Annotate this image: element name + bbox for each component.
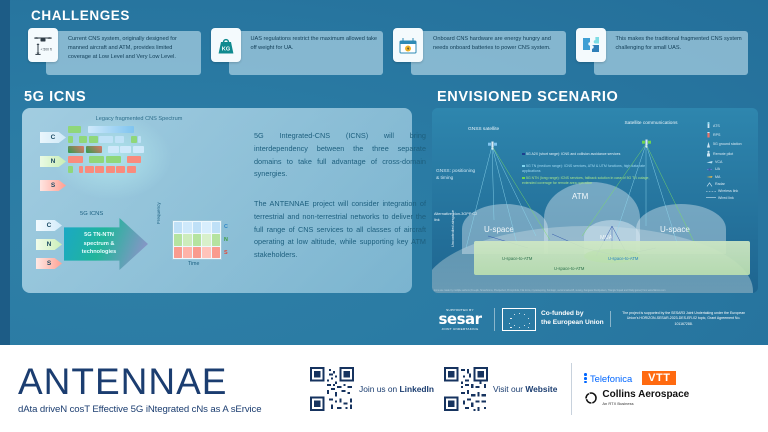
chart-row-label-s: S <box>224 250 228 256</box>
legend-label: ATS <box>713 124 720 128</box>
legend-label: Radar <box>715 182 725 186</box>
linkedin-qr[interactable] <box>310 367 354 411</box>
grant-statement: The project is supported by the SESAR3 J… <box>610 311 750 328</box>
ground-station-icon <box>706 141 711 148</box>
legend-item: Wired link <box>706 196 754 200</box>
legend-item: Remote pilot <box>706 150 754 157</box>
spectrum-row <box>68 146 178 153</box>
challenge-card: Onboard CNS hardware are energy hungry a… <box>393 28 566 83</box>
spectrum-row <box>68 136 178 143</box>
linkedin-qr-label: Join us on LinkedIn <box>359 384 434 394</box>
chart-grid <box>172 220 222 260</box>
challenge-card: UAS regulations restrict the maximum all… <box>211 28 384 83</box>
website-prefix: Visit our <box>493 384 525 394</box>
gnss-service-label: GNSS: positioning & timing <box>436 168 476 182</box>
eu-funding-text: Co-funded by the European Union <box>541 310 604 328</box>
scenario-bullet-text: 5G NTN (long range): ICNS services, fall… <box>522 176 649 185</box>
altitude-value: < 500 ft <box>41 47 52 51</box>
icns-paragraph-1: 5G Integrated-CNS (ICNS) will bring inte… <box>254 130 426 181</box>
scenario-bullet-tn: 5G TN (medium range): ICNS services, ATM… <box>522 164 650 175</box>
website-qr-group[interactable]: Visit our Website <box>444 367 557 411</box>
vca-icon <box>706 160 713 165</box>
chart-band-c <box>173 221 221 234</box>
legend-label: Wireless link <box>718 189 738 193</box>
challenge-card: This makes the traditional fragmented CN… <box>576 28 749 83</box>
radar-icon <box>706 182 713 187</box>
collins-text: Collins Aerospace An RTX Business <box>602 390 689 406</box>
spectrum-row <box>68 126 178 133</box>
ua-icon <box>706 167 713 172</box>
scenario-bullet-a2x: 5G A2X (short range): ICNS and collision… <box>522 152 650 157</box>
brand-name: ANTENNAE <box>18 363 300 400</box>
wired-link-icon <box>706 196 716 199</box>
challenge-text: Onboard CNS hardware are energy hungry a… <box>433 35 561 53</box>
link-label-uspace-to-atm-left: U-space-to-ATM <box>502 256 532 261</box>
legacy-spectrum-caption-wrap: Legacy fragmented CNS Spectrum <box>64 116 214 125</box>
challenge-card: Current CNS system, originally designed … <box>28 28 201 83</box>
satellite-communications-icon <box>642 136 651 149</box>
challenges-list: Current CNS system, originally designed … <box>28 28 748 83</box>
vtt-logo: VTT <box>642 371 676 385</box>
legend-label: RPS <box>713 133 720 137</box>
gnss-satellite-label: GNSS satellite <box>468 126 499 133</box>
challenge-text: This makes the traditional fragmented CN… <box>616 35 744 53</box>
legacy-spectrum-rows <box>68 126 178 176</box>
weight-kg-icon: KG <box>211 28 241 62</box>
collins-mark-icon <box>584 391 598 405</box>
gnss-satellite-icon <box>488 138 497 151</box>
scenario-bullet-text: 5G TN (medium range): ICNS services, ATM… <box>522 164 645 173</box>
challenge-text: UAS regulations restrict the maximum all… <box>251 35 379 53</box>
legend-item: UA <box>706 167 754 172</box>
challenge-text: Current CNS system, originally designed … <box>68 35 196 63</box>
legend-item: RPS <box>706 131 754 138</box>
ats-icon <box>706 122 711 129</box>
legend-item: VCA <box>706 160 754 165</box>
partner-row-top: Telefonica VTT <box>584 371 689 385</box>
challenge-card-box: Current CNS system, originally designed … <box>46 31 201 75</box>
icns-domain-n: N <box>36 239 62 250</box>
website-qr[interactable] <box>444 367 488 411</box>
eu-line-2: the European Union <box>541 319 604 328</box>
legend-item: ATS <box>706 122 754 129</box>
satellite-communications-label: Satellite communications <box>620 120 682 127</box>
eu-funding-block: Co-funded by the European Union <box>494 308 604 331</box>
legend-label: UA <box>715 167 720 171</box>
website-qr-label: Visit our Website <box>493 384 557 394</box>
linkedin-prefix: Join us on <box>359 384 400 394</box>
legend-item: MA <box>706 174 754 179</box>
left-rail <box>0 0 10 345</box>
icns-panel: Legacy fragmented CNS Spectrum C N S <box>22 108 412 293</box>
telefonica-label: Telefonica <box>590 373 632 384</box>
link-label-uspace-to-atm-right: U-space-to-ATM <box>608 256 638 261</box>
challenge-card-box: UAS regulations restrict the maximum all… <box>229 31 384 75</box>
eu-line-1: Co-funded by <box>541 310 604 319</box>
poster: CHALLENGES Current CNS system, originall… <box>0 0 768 432</box>
chart-y-label: Frequency <box>156 202 161 224</box>
bullet-dot <box>522 165 525 168</box>
scenario-bullet-ntn: 5G NTN (long range): ICNS services, fall… <box>522 176 650 187</box>
collins-name: Collins Aerospace <box>602 390 689 401</box>
challenge-card-box: Onboard CNS hardware are energy hungry a… <box>411 31 566 75</box>
chart-row-label-n: N <box>224 237 228 243</box>
scenario-title: ENVISIONED SCENARIO <box>437 89 618 105</box>
scenario-legend: ATS RPS 5G ground station Remote pilot <box>706 122 754 202</box>
remote-pilot-icon <box>706 150 711 157</box>
sesar-logo: SUPPORTED BY sesar JOINT UNDERTAKING <box>432 308 488 331</box>
funding-bar: SUPPORTED BY sesar JOINT UNDERTAKING Co-… <box>432 297 758 341</box>
website-strong: Website <box>525 384 557 394</box>
chart-row-label-c: C <box>224 224 228 230</box>
rps-icon <box>706 131 711 138</box>
uncontrolled-airspace-label: Uncontrolled airspace <box>451 191 457 247</box>
scenario-panel: U-space ATM U-space MUA <box>432 108 758 293</box>
legend-label: VCA <box>715 160 722 164</box>
puzzle-icon <box>576 28 606 62</box>
chart-x-label: Time <box>188 261 199 267</box>
convergence-arrow: 5G TN-NTN spectrum & technologies <box>64 218 148 270</box>
partner-row-bottom: Collins Aerospace An RTX Business <box>584 390 689 406</box>
partner-logos: Telefonica VTT <box>571 363 689 415</box>
icns-diagram-caption: 5G ICNS <box>80 211 103 217</box>
drone-altitude-icon: < 500 ft <box>28 28 58 62</box>
linkedin-strong: LinkedIn <box>400 384 434 394</box>
spectrum-row <box>68 166 178 173</box>
convergence-arrow-label: 5G TN-NTN spectrum & technologies <box>73 231 125 256</box>
legend-label: Wired link <box>718 196 734 200</box>
frequency-time-chart: Frequency C N S <box>162 220 224 270</box>
legacy-spectrum-caption: Legacy fragmented CNS Spectrum <box>64 116 214 122</box>
telefonica-logo: Telefonica <box>584 373 632 384</box>
legend-label: MA <box>715 175 720 179</box>
collins-logo: Collins Aerospace An RTX Business <box>584 390 689 406</box>
svg-text:KG: KG <box>221 47 229 53</box>
legend-label: Remote pilot <box>713 152 733 156</box>
footer: ANTENNAE dAta driveN cosT Effective 5G i… <box>0 345 768 432</box>
battery-icon <box>393 28 423 62</box>
challenges-title: CHALLENGES <box>31 8 130 23</box>
sesar-wordmark: sesar <box>432 312 488 327</box>
legend-item: Wireless link <box>706 189 754 193</box>
chart-band-s <box>173 246 221 259</box>
collins-sublabel: An RTX Business <box>602 401 689 406</box>
challenge-card-box: This makes the traditional fragmented CN… <box>594 31 749 75</box>
ma-icon <box>706 174 713 179</box>
eu-flag-icon <box>502 308 536 331</box>
wireless-link-icon <box>706 190 716 193</box>
icns-paragraph-2: The ANTENNAE project will consider integ… <box>254 198 426 262</box>
chart-band-n <box>173 234 221 247</box>
bullet-dot <box>522 153 525 156</box>
icns-title: 5G ICNS <box>24 89 86 105</box>
scenario-bullet-text: 5G A2X (short range): ICNS and collision… <box>526 152 620 156</box>
bullet-dot <box>522 177 525 180</box>
legend-label: 5G ground station <box>713 142 742 146</box>
icns-domain-s: S <box>36 258 62 269</box>
linkedin-qr-group[interactable]: Join us on LinkedIn <box>310 367 434 411</box>
brand-block: ANTENNAE dAta driveN cosT Effective 5G i… <box>18 363 300 415</box>
icns-domain-c: C <box>36 220 62 231</box>
legend-item: 5G ground station <box>706 141 754 148</box>
link-label-uspace-to-atm-center: U-space-to-ATM <box>554 266 584 271</box>
telefonica-dots-icon <box>584 373 587 383</box>
scenario-credits: Icons are made by multiple authors (Free… <box>434 290 666 292</box>
brand-subtitle: dAta driveN cosT Effective 5G iNtegrated… <box>18 404 300 415</box>
spectrum-row <box>68 156 178 163</box>
legend-item: Radar <box>706 182 754 187</box>
